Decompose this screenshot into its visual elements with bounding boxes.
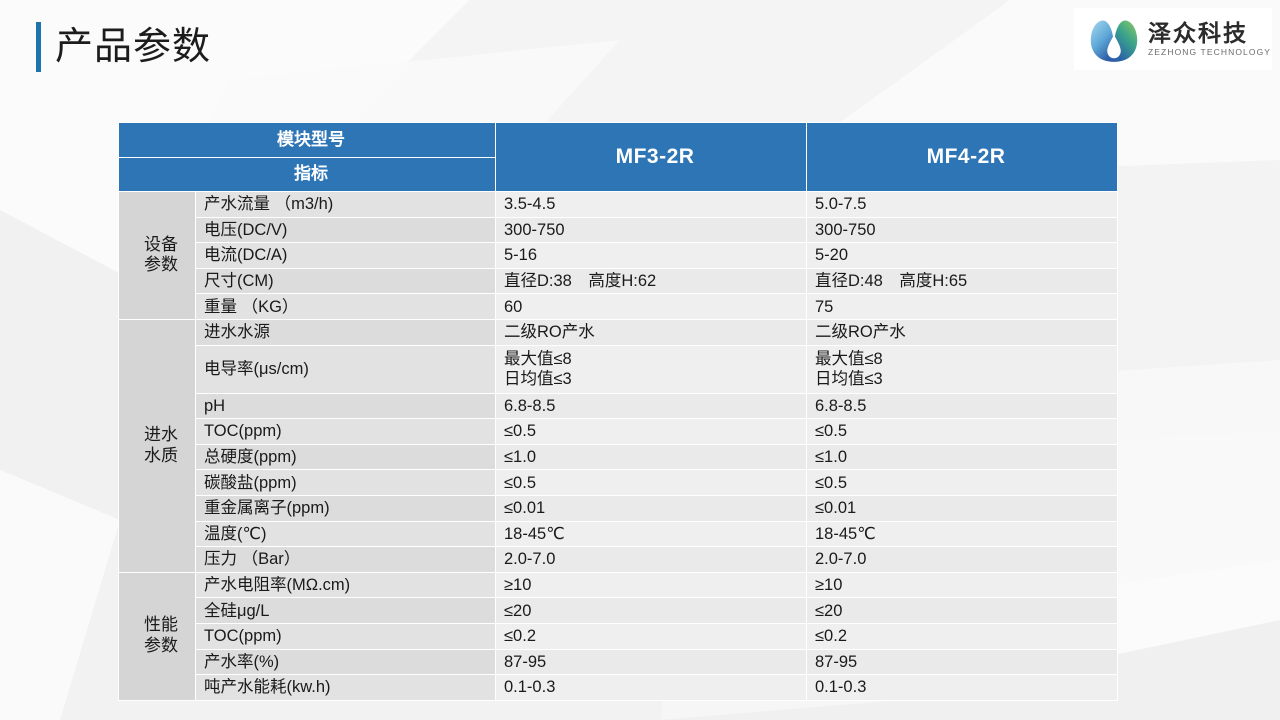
- spec-item-label: 电导率(μs/cm): [196, 345, 496, 393]
- spec-value-mf3: ≤0.2: [496, 623, 807, 649]
- spec-item-label: 吨产水能耗(kw.h): [196, 675, 496, 701]
- spec-item-label: 产水流量 （m3/h): [196, 192, 496, 218]
- spec-value-mf4: 5-20: [807, 243, 1118, 269]
- spec-item-label: 重金属离子(ppm): [196, 495, 496, 521]
- table-row: pH6.8-8.56.8-8.5: [119, 393, 1118, 419]
- spec-value-mf4: ≥10: [807, 572, 1118, 598]
- logo-name-en: ZEZHONG TECHNOLOGY: [1148, 47, 1271, 57]
- spec-value-mf3: ≤0.01: [496, 495, 807, 521]
- spec-table-container: 模块型号 MF3-2R MF4-2R 指标 设备参数产水流量 （m3/h)3.5…: [118, 122, 1117, 701]
- spec-value-mf3: ≥10: [496, 572, 807, 598]
- company-logo: 泽众科技 ZEZHONG TECHNOLOGY: [1074, 8, 1272, 70]
- table-row: 尺寸(CM)直径D:38 高度H:62直径D:48 高度H:65: [119, 268, 1118, 294]
- title-accent-bar: [36, 22, 41, 72]
- spec-value-mf3: 5-16: [496, 243, 807, 269]
- table-row: 重金属离子(ppm)≤0.01≤0.01: [119, 495, 1118, 521]
- spec-item-label: 电流(DC/A): [196, 243, 496, 269]
- spec-value-mf4: 87-95: [807, 649, 1118, 675]
- table-row: 性能参数产水电阻率(MΩ.cm)≥10≥10: [119, 572, 1118, 598]
- spec-value-mf3: ≤0.5: [496, 470, 807, 496]
- spec-item-label: 电压(DC/V): [196, 217, 496, 243]
- spec-item-label: 温度(℃): [196, 521, 496, 547]
- spec-value-mf3: ≤0.5: [496, 419, 807, 445]
- table-row: 温度(℃)18-45℃18-45℃: [119, 521, 1118, 547]
- row-group-label: 设备参数: [119, 192, 196, 320]
- spec-value-mf4: ≤0.5: [807, 470, 1118, 496]
- spec-item-label: 重量 （KG）: [196, 294, 496, 320]
- spec-item-label: 尺寸(CM): [196, 268, 496, 294]
- row-group-label: 进水水质: [119, 319, 196, 572]
- table-head: 模块型号 MF3-2R MF4-2R 指标: [119, 123, 1118, 192]
- logo-text-block: 泽众科技 ZEZHONG TECHNOLOGY: [1148, 21, 1271, 57]
- table-row: 电压(DC/V)300-750300-750: [119, 217, 1118, 243]
- spec-value-mf3: 0.1-0.3: [496, 675, 807, 701]
- spec-value-mf4: 0.1-0.3: [807, 675, 1118, 701]
- spec-item-label: 压力 （Bar）: [196, 547, 496, 573]
- spec-value-mf4: 18-45℃: [807, 521, 1118, 547]
- table-row: 碳酸盐(ppm)≤0.5≤0.5: [119, 470, 1118, 496]
- header-model-label: 模块型号: [119, 123, 496, 158]
- spec-item-label: 进水水源: [196, 319, 496, 345]
- spec-value-mf3: 6.8-8.5: [496, 393, 807, 419]
- spec-value-mf4: 5.0-7.5: [807, 192, 1118, 218]
- lotus-water-drop-icon: [1088, 16, 1140, 62]
- page-title: 产品参数: [55, 28, 211, 66]
- table-row: 产水率(%)87-9587-95: [119, 649, 1118, 675]
- table-row: TOC(ppm)≤0.2≤0.2: [119, 623, 1118, 649]
- spec-value-mf4: ≤0.5: [807, 419, 1118, 445]
- spec-item-label: TOC(ppm): [196, 623, 496, 649]
- spec-value-mf3: 直径D:38 高度H:62: [496, 268, 807, 294]
- table-row: 吨产水能耗(kw.h)0.1-0.30.1-0.3: [119, 675, 1118, 701]
- spec-value-mf3: ≤20: [496, 598, 807, 624]
- table-row: 压力 （Bar）2.0-7.02.0-7.0: [119, 547, 1118, 573]
- spec-value-mf4: ≤0.2: [807, 623, 1118, 649]
- spec-item-label: 总硬度(ppm): [196, 444, 496, 470]
- spec-value-mf4: 300-750: [807, 217, 1118, 243]
- spec-value-mf4: 6.8-8.5: [807, 393, 1118, 419]
- spec-value-mf3: 87-95: [496, 649, 807, 675]
- table-row: 总硬度(ppm)≤1.0≤1.0: [119, 444, 1118, 470]
- spec-value-mf3: 最大值≤8日均值≤3: [496, 345, 807, 393]
- table-row: 重量 （KG）6075: [119, 294, 1118, 320]
- spec-item-label: 全硅μg/L: [196, 598, 496, 624]
- table-body: 设备参数产水流量 （m3/h)3.5-4.55.0-7.5电压(DC/V)300…: [119, 192, 1118, 701]
- header-index-label: 指标: [119, 158, 496, 192]
- spec-item-label: pH: [196, 393, 496, 419]
- header-model-mf3: MF3-2R: [496, 123, 807, 192]
- spec-value-mf3: 300-750: [496, 217, 807, 243]
- spec-value-mf3: 60: [496, 294, 807, 320]
- table-row: 电流(DC/A)5-165-20: [119, 243, 1118, 269]
- spec-value-mf4: ≤1.0: [807, 444, 1118, 470]
- spec-value-mf4: ≤0.01: [807, 495, 1118, 521]
- table-row: 进水水质进水水源二级RO产水二级RO产水: [119, 319, 1118, 345]
- table-row: TOC(ppm)≤0.5≤0.5: [119, 419, 1118, 445]
- spec-item-label: 产水电阻率(MΩ.cm): [196, 572, 496, 598]
- spec-value-mf3: 18-45℃: [496, 521, 807, 547]
- spec-value-mf4: 二级RO产水: [807, 319, 1118, 345]
- spec-value-mf4: 直径D:48 高度H:65: [807, 268, 1118, 294]
- spec-item-label: 碳酸盐(ppm): [196, 470, 496, 496]
- spec-item-label: TOC(ppm): [196, 419, 496, 445]
- spec-item-label: 产水率(%): [196, 649, 496, 675]
- table-row: 设备参数产水流量 （m3/h)3.5-4.55.0-7.5: [119, 192, 1118, 218]
- table-row: 全硅μg/L≤20≤20: [119, 598, 1118, 624]
- spec-value-mf3: ≤1.0: [496, 444, 807, 470]
- spec-value-mf4: ≤20: [807, 598, 1118, 624]
- header-model-mf4: MF4-2R: [807, 123, 1118, 192]
- spec-value-mf4: 75: [807, 294, 1118, 320]
- logo-name-cn: 泽众科技: [1148, 21, 1271, 45]
- spec-value-mf3: 二级RO产水: [496, 319, 807, 345]
- spec-value-mf4: 最大值≤8日均值≤3: [807, 345, 1118, 393]
- spec-value-mf4: 2.0-7.0: [807, 547, 1118, 573]
- header-row-model: 模块型号 MF3-2R MF4-2R: [119, 123, 1118, 158]
- spec-value-mf3: 2.0-7.0: [496, 547, 807, 573]
- spec-value-mf3: 3.5-4.5: [496, 192, 807, 218]
- product-spec-table: 模块型号 MF3-2R MF4-2R 指标 设备参数产水流量 （m3/h)3.5…: [118, 122, 1118, 701]
- page-title-group: 产品参数: [36, 22, 211, 72]
- table-row: 电导率(μs/cm)最大值≤8日均值≤3最大值≤8日均值≤3: [119, 345, 1118, 393]
- row-group-label: 性能参数: [119, 572, 196, 700]
